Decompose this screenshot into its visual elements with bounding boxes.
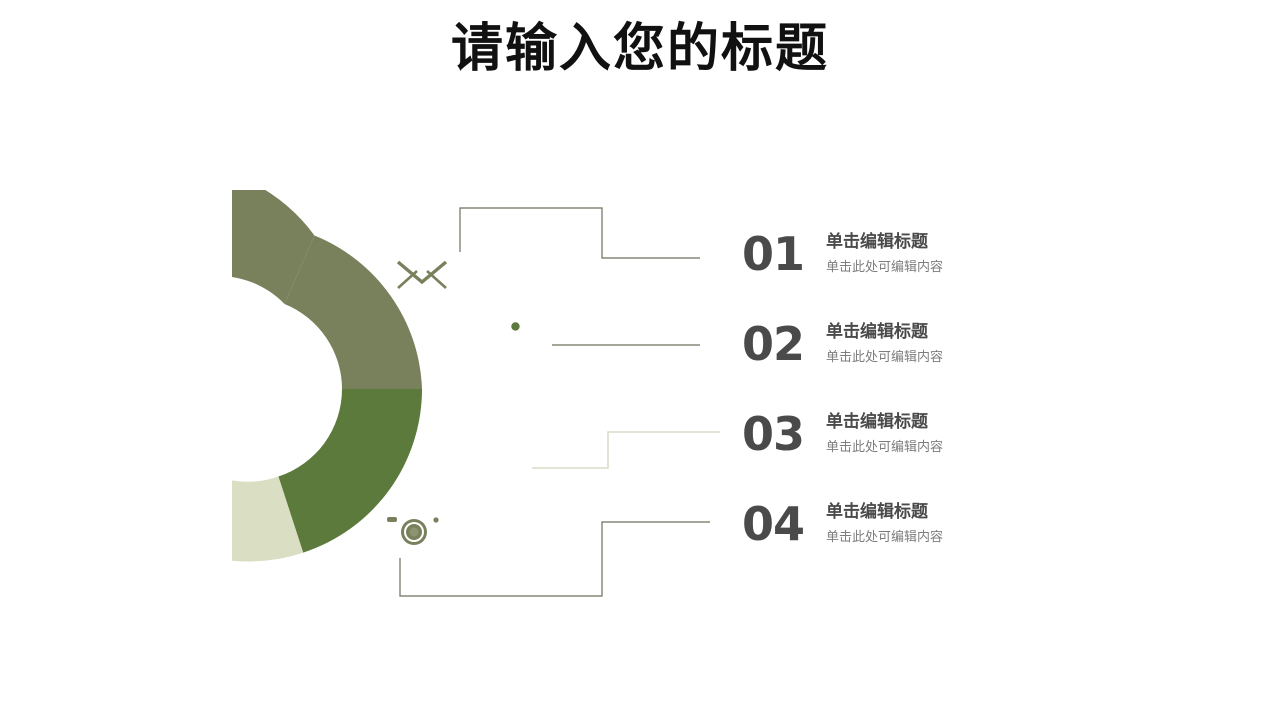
list-item-02[interactable]: 02 单击编辑标题 单击此处可编辑内容 bbox=[742, 318, 1162, 380]
item-number-02: 02 bbox=[742, 318, 820, 370]
list-item-04[interactable]: 04 单击编辑标题 单击此处可编辑内容 bbox=[742, 498, 1162, 560]
donut-segment-envelope[interactable] bbox=[285, 236, 422, 389]
item-texts-02: 单击编辑标题 单击此处可编辑内容 bbox=[826, 320, 1146, 368]
item-subtext-03[interactable]: 单击此处可编辑内容 bbox=[826, 436, 1146, 458]
page-title[interactable]: 请输入您的标题 bbox=[0, 14, 1280, 84]
item-texts-01: 单击编辑标题 单击此处可编辑内容 bbox=[826, 230, 1146, 278]
key-icon bbox=[479, 309, 533, 375]
item-heading-02[interactable]: 单击编辑标题 bbox=[826, 320, 1146, 344]
item-texts-04: 单击编辑标题 单击此处可编辑内容 bbox=[826, 500, 1146, 548]
item-heading-01[interactable]: 单击编辑标题 bbox=[826, 230, 1146, 254]
item-subtext-04[interactable]: 单击此处可编辑内容 bbox=[826, 526, 1146, 548]
list-item-03[interactable]: 03 单击编辑标题 单击此处可编辑内容 bbox=[742, 408, 1162, 470]
list-item-01[interactable]: 01 单击编辑标题 单击此处可编辑内容 bbox=[742, 228, 1162, 290]
item-heading-03[interactable]: 单击编辑标题 bbox=[826, 410, 1146, 434]
items-list: 01 单击编辑标题 单击此处可编辑内容 02 单击编辑标题 单击此处可编辑内容 … bbox=[742, 228, 1162, 568]
wand-stick bbox=[490, 433, 532, 484]
donut-sectors bbox=[232, 190, 422, 562]
item-texts-03: 单击编辑标题 单击此处可编辑内容 bbox=[826, 410, 1146, 458]
camera-hump bbox=[403, 505, 425, 513]
donut-diagram bbox=[232, 190, 612, 610]
camera-viewfinder bbox=[387, 517, 397, 522]
wand-spark-7 bbox=[497, 439, 502, 444]
wand-spark-3 bbox=[542, 463, 548, 469]
magic-wand-icon bbox=[490, 433, 548, 484]
envelope-icon bbox=[398, 245, 446, 288]
item-subtext-02[interactable]: 单击此处可编辑内容 bbox=[826, 346, 1146, 368]
item-number-03: 03 bbox=[742, 408, 820, 460]
wand-spark-2 bbox=[540, 448, 546, 454]
wand-spark-4 bbox=[532, 474, 538, 480]
wand-spark-1 bbox=[528, 436, 535, 443]
slide-canvas: 请输入您的标题 bbox=[0, 0, 1280, 720]
item-subtext-01[interactable]: 单击此处可编辑内容 bbox=[826, 256, 1146, 278]
camera-aperture bbox=[410, 528, 419, 537]
item-heading-04[interactable]: 单击编辑标题 bbox=[826, 500, 1146, 524]
camera-icon bbox=[384, 505, 444, 551]
camera-flash bbox=[433, 517, 438, 522]
wand-spark-6 bbox=[506, 466, 511, 471]
item-number-04: 04 bbox=[742, 498, 820, 550]
item-number-01: 01 bbox=[742, 228, 820, 280]
donut-segment-camera[interactable] bbox=[232, 190, 314, 497]
wand-spark-5 bbox=[516, 476, 522, 482]
